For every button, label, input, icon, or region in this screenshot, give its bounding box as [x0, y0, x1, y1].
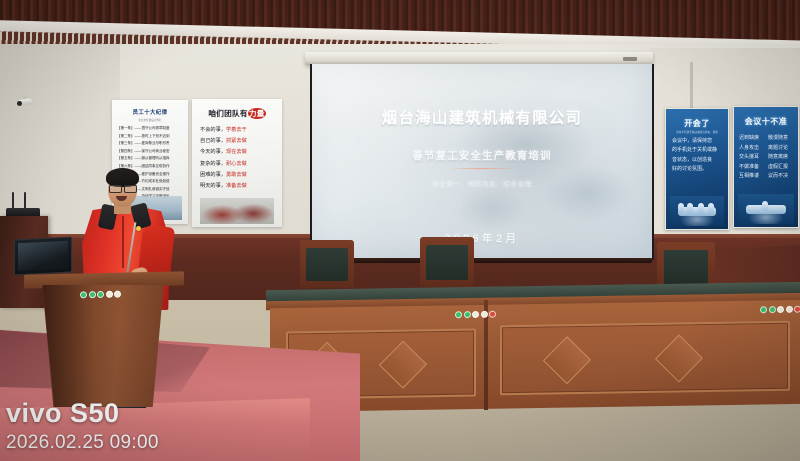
poster-line: 复杂的事，耐心去做: [200, 159, 276, 170]
poster-line-b: 现在去做: [226, 149, 247, 155]
chair-backrest: [306, 248, 347, 282]
poster-meeting-start-title: 开会了: [666, 118, 728, 129]
projection-screen: 烟台海山建筑机械有限公司 春节复工安全生产教育培训 安全第一、预防为主、综合治理…: [310, 64, 654, 260]
poster-item: 散漫随意: [768, 134, 794, 141]
poster-team-power-title-highlight: 力量: [248, 108, 266, 119]
security-camera-lens-icon: [17, 101, 22, 106]
speaker-glasses-icon: [109, 185, 137, 191]
podium-indicator-lights: [80, 291, 121, 299]
poster-employee-code-title: 员工十大纪律: [112, 108, 188, 116]
poster-team-power-image: [200, 198, 274, 224]
poster-meeting-start-image: [670, 196, 724, 226]
poster-line-a: 明天的事，: [200, 183, 226, 189]
slide-date: 2026年2月: [312, 230, 652, 246]
poster-illustration-person: [678, 203, 684, 213]
poster-line: 【第四条】——保守公司商业秘密: [117, 148, 184, 156]
poster-line: 明天的事，准备去做: [200, 181, 276, 192]
poster-line: 今天的事，现在去做: [200, 147, 276, 158]
poster-line: 会议中，请保持您: [672, 137, 723, 146]
chair: [420, 237, 474, 287]
speaker-lapel-badge: [136, 226, 141, 231]
poster-ten-prohibitions-title: 会议十不准: [734, 116, 798, 127]
poster-line: 【第二条】——按时上下班不迟到: [117, 133, 184, 141]
indicator-light: [786, 306, 793, 313]
laptop[interactable]: [14, 236, 72, 275]
indicator-light: [455, 311, 462, 318]
indicator-light: [89, 291, 96, 298]
poster-item: 人身攻击: [739, 144, 765, 151]
poster-line-b: 准备去做: [226, 183, 247, 189]
photo-scene: 员工十大纪律 企业文化建设宣传栏 【第一条】——遵守公司规章制度 【第二条】——…: [0, 0, 800, 461]
poster-meeting-start-lines: 会议中，请保持您 的手机处于关机或静 音状态，以创造良 好的讨论氛围。: [672, 137, 723, 175]
poster-illustration-person: [698, 203, 704, 213]
slide-title: 烟台海山建筑机械有限公司: [312, 106, 652, 128]
poster-team-power-lines: 不会的事，学着去干 自己的事，抓紧去做 今天的事，现在去做 复杂的事，耐心去做 …: [200, 125, 276, 192]
slide-divider: [449, 168, 515, 169]
poster-line-b: 学着去干: [226, 127, 247, 133]
poster-ten-prohibitions-image: [738, 194, 794, 224]
diamond-motif: [543, 336, 591, 384]
poster-line-b: 勇敢去做: [226, 172, 247, 178]
poster-line: 【第一条】——遵守公司规章制度: [117, 125, 184, 133]
poster-line: 好的讨论氛围。: [672, 165, 723, 174]
poster-line: 【第三条】——爱岗敬业尽职尽责: [117, 140, 184, 148]
diamond-motif: [379, 341, 427, 389]
chair-backrest: [664, 250, 708, 285]
poster-illustration-person: [708, 203, 714, 213]
indicator-light: [481, 311, 488, 318]
poster-item: 不做准备: [739, 163, 765, 170]
poster-item: 迟到缺席: [739, 134, 765, 141]
poster-item: 离题讨论: [768, 144, 794, 151]
indicator-light: [777, 306, 784, 313]
poster-line: 自己的事，抓紧去做: [200, 136, 276, 147]
slide-subtitle: 春节复工安全生产教育培训: [312, 148, 652, 163]
screen-housing-knob: [623, 57, 637, 61]
poster-item: 议而不决: [768, 172, 794, 179]
indicator-light: [106, 291, 113, 298]
poster-line-a: 今天的事，: [200, 149, 226, 155]
diamond-motif: [655, 334, 703, 382]
poster-item: 虚假汇报: [768, 163, 794, 170]
poster-line: 的手机处于关机或静: [672, 146, 723, 155]
poster-meeting-start-subtitle: 请将手机调至振动或静音状态，谢谢: [666, 130, 728, 134]
glasses-lens-right: [124, 185, 137, 193]
table-panel-right: [500, 321, 790, 396]
poster-line-a: 困难的事，: [200, 172, 226, 178]
poster-line-b: 抓紧去做: [226, 138, 247, 144]
poster-team-power-title-prefix: 咱们团队有: [208, 109, 247, 118]
poster-item: 随意离席: [768, 153, 794, 160]
poster-line-a: 复杂的事，: [200, 161, 226, 167]
poster-item: 互相推诿: [739, 172, 765, 179]
indicator-light: [760, 306, 767, 313]
poster-meeting-start: 开会了 请将手机调至振动或静音状态，谢谢 会议中，请保持您 的手机处于关机或静 …: [665, 108, 729, 230]
poster-item: 交头接耳: [739, 153, 765, 160]
poster-line: 【第五条】——服从管理听从指挥: [117, 155, 184, 163]
poster-illustration-person: [687, 203, 693, 213]
slide-motto: 安全第一、预防为主、综合治理: [312, 178, 652, 188]
poster-line-b: 耐心去做: [226, 161, 247, 167]
poster-team-power-title: 咱们团队有力量: [192, 108, 282, 119]
poster-team-power: 咱们团队有力量 不会的事，学着去干 自己的事，抓紧去做 今天的事，现在去做 复杂…: [192, 99, 282, 227]
poster-line-a: 自己的事，: [200, 138, 226, 144]
poster-line-a: 不会的事，: [200, 127, 226, 133]
camera-watermark-timestamp: 2026.02.25 09:00: [6, 432, 159, 454]
glasses-lens-left: [109, 185, 122, 193]
speaker-jacket-zipper: [122, 216, 124, 268]
indicator-light: [97, 291, 104, 298]
slide-content: 烟台海山建筑机械有限公司 春节复工安全生产教育培训 安全第一、预防为主、综合治理…: [312, 64, 652, 260]
table-indicator-lights-left: [455, 311, 496, 319]
poster-line: 困难的事，勇敢去做: [200, 170, 276, 181]
indicator-light: [80, 291, 87, 298]
indicator-light: [114, 291, 121, 298]
chair: [300, 240, 354, 288]
chair-backrest: [426, 245, 467, 280]
poster-line: 音状态，以创造良: [672, 156, 723, 165]
camera-watermark-brand: vivo S50: [6, 398, 120, 429]
indicator-light: [489, 311, 496, 318]
table-indicator-lights-right: [760, 306, 800, 314]
poster-illustration-person: [762, 201, 768, 211]
indicator-light: [769, 306, 776, 313]
poster-employee-code-subtitle: 企业文化建设宣传栏: [112, 118, 188, 122]
poster-line: 不会的事，学着去干: [200, 125, 276, 136]
projection-screen-bottom-bar: [308, 258, 652, 263]
indicator-light: [794, 306, 800, 313]
poster-ten-prohibitions: 会议十不准 迟到缺席 散漫随意 人身攻击 离题讨论 交头接耳 随意离席 不做准备…: [733, 106, 799, 228]
poster-ten-prohibitions-items: 迟到缺席 散漫随意 人身攻击 离题讨论 交头接耳 随意离席 不做准备 虚假汇报 …: [739, 134, 794, 179]
indicator-light: [464, 311, 471, 318]
indicator-light: [472, 311, 479, 318]
